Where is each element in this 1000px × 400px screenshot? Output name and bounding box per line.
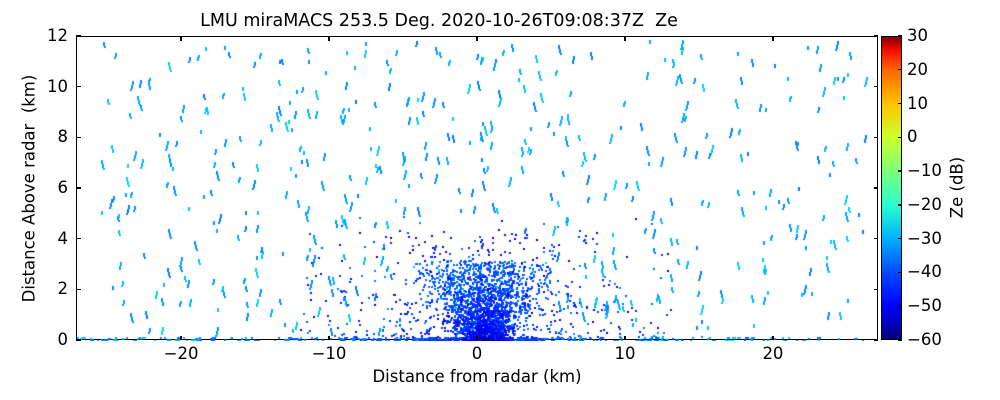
colorbar-tick-mark — [898, 306, 903, 307]
x-tick-label: 0 — [437, 345, 517, 363]
colorbar-tick-label: 30 — [907, 27, 928, 45]
colorbar-tick-label: −10 — [907, 162, 942, 180]
x-tick-mark — [476, 336, 477, 341]
y-tick-mark — [874, 35, 879, 36]
y-tick-mark — [76, 86, 81, 87]
x-tick-mark — [772, 36, 773, 41]
x-tick-label: −20 — [141, 345, 221, 363]
x-tick-mark — [624, 36, 625, 41]
y-tick-mark — [76, 339, 81, 340]
plot-axes — [76, 36, 878, 340]
colorbar-tick-mark — [898, 69, 903, 70]
x-tick-mark — [772, 336, 773, 341]
y-tick-mark — [874, 137, 879, 138]
scatter-data-layer — [77, 37, 879, 341]
radar-reflectivity-figure: LMU miraMACS 253.5 Deg. 2020-10-26T09:08… — [0, 0, 1000, 400]
y-tick-mark — [76, 35, 81, 36]
x-tick-label: −10 — [289, 345, 369, 363]
colorbar-tick-mark — [898, 103, 903, 104]
colorbar-tick-mark — [898, 339, 903, 340]
colorbar-tick-label: −50 — [907, 297, 942, 315]
y-tick-mark — [76, 238, 81, 239]
x-tick-mark — [180, 336, 181, 341]
colorbar-tick-label: 10 — [907, 95, 928, 113]
y-tick-mark — [874, 289, 879, 290]
colorbar-label: Ze (dB) — [948, 88, 967, 288]
colorbar-tick-mark — [898, 272, 903, 273]
x-axis-label: Distance from radar (km) — [76, 367, 878, 386]
y-axis-label: Distance Above radar (km) — [20, 37, 39, 341]
x-tick-mark — [328, 336, 329, 341]
y-tick-mark — [874, 86, 879, 87]
colorbar-tick-mark — [898, 238, 903, 239]
x-tick-label: 20 — [733, 345, 813, 363]
colorbar-tick-mark — [898, 170, 903, 171]
page-title: LMU miraMACS 253.5 Deg. 2020-10-26T09:08… — [0, 11, 878, 31]
y-tick-mark — [76, 137, 81, 138]
colorbar-tick-label: −20 — [907, 196, 942, 214]
x-tick-mark — [180, 36, 181, 41]
x-tick-mark — [328, 36, 329, 41]
x-tick-label: 10 — [585, 345, 665, 363]
colorbar-tick-label: −30 — [907, 230, 942, 248]
colorbar-tick-mark — [898, 137, 903, 138]
y-tick-mark — [874, 238, 879, 239]
y-tick-mark — [76, 187, 81, 188]
colorbar-tick-mark — [898, 204, 903, 205]
x-tick-mark — [624, 336, 625, 341]
colorbar-tick-mark — [898, 35, 903, 36]
y-tick-mark — [874, 339, 879, 340]
colorbar-tick-label: −60 — [907, 331, 942, 349]
colorbar-tick-label: −40 — [907, 263, 942, 281]
colorbar-tick-label: 20 — [907, 61, 928, 79]
x-tick-mark — [476, 36, 477, 41]
colorbar-tick-label: 0 — [907, 128, 918, 146]
y-tick-mark — [874, 187, 879, 188]
y-tick-mark — [76, 289, 81, 290]
colorbar-gradient — [881, 36, 902, 340]
